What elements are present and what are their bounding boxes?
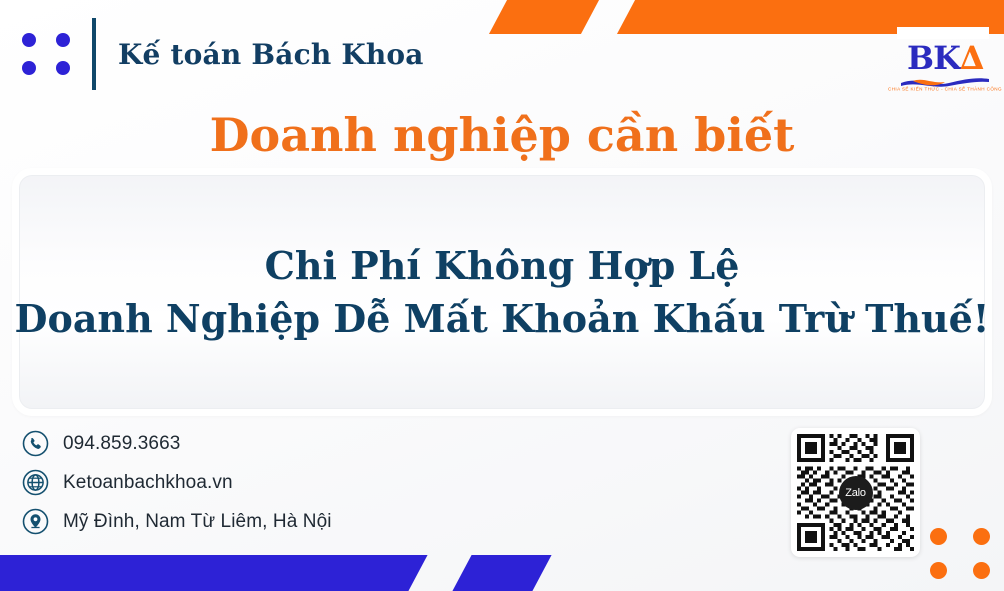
orange-slant-shape-2 — [617, 0, 1004, 34]
brand-header: Kế toán Bách Khoa — [22, 18, 424, 90]
logo-wordmark: BK∆ — [897, 42, 993, 74]
dot — [973, 528, 990, 545]
poster-canvas: Kế toán Bách Khoa BK∆ CHIA SẺ KIẾN THỨC … — [0, 0, 1004, 591]
blue-slant-shape-1 — [0, 555, 428, 591]
contact-row-website[interactable]: Ketoanbachkhoa.vn — [22, 463, 542, 502]
dot — [973, 562, 990, 579]
logo-letter-b: B — [907, 39, 933, 77]
main-message-card: Chi Phí Không Hợp Lệ Doanh Nghiệp Dễ Mất… — [12, 168, 992, 416]
contact-list: 094.859.3663 Ketoanbachkhoa.vn Mỹ Đình, … — [22, 424, 542, 541]
dot — [930, 562, 947, 579]
phone-icon — [22, 430, 49, 457]
logo-white-notch — [897, 27, 989, 39]
dot — [56, 61, 70, 75]
location-pin-icon — [22, 508, 49, 535]
zalo-qr-code[interactable]: Zalo — [791, 428, 920, 557]
bottom-blue-band — [0, 555, 1004, 591]
orange-right-block — [880, 0, 1004, 34]
dot — [56, 33, 70, 47]
contact-phone-text: 094.859.3663 — [63, 433, 180, 455]
logo-tagline: CHIA SẺ KIẾN THỨC - CHIA SẺ THÀNH CÔNG — [880, 88, 1004, 93]
card-headline-line-2: Doanh Nghiệp Dễ Mất Khoản Khấu Trừ Thuế! — [15, 295, 990, 343]
page-kicker: Doanh nghiệp cần biết — [0, 110, 1004, 161]
orange-slant-shape-1 — [489, 0, 599, 34]
four-dots-grid-icon — [22, 33, 70, 75]
contact-website-text: Ketoanbachkhoa.vn — [63, 472, 233, 494]
brand-name: Kế toán Bách Khoa — [118, 38, 424, 71]
logo-letter-k: K — [933, 39, 960, 77]
blue-slant-shape-2 — [452, 555, 551, 591]
four-dots-grid-orange-icon — [930, 528, 990, 579]
contact-row-phone[interactable]: 094.859.3663 — [22, 424, 542, 463]
card-headline-line-1: Chi Phí Không Hợp Lệ — [265, 242, 740, 290]
contact-row-address[interactable]: Mỹ Đình, Nam Từ Liêm, Hà Nội — [22, 502, 542, 541]
qr-center-badge: Zalo — [839, 476, 873, 510]
dot — [930, 528, 947, 545]
logo-letter-delta: ∆ — [960, 39, 983, 77]
bka-logo: BK∆ CHIA SẺ KIẾN THỨC - CHIA SẺ THÀNH CÔ… — [897, 42, 993, 100]
dot — [22, 33, 36, 47]
globe-icon — [22, 469, 49, 496]
vertical-divider — [92, 18, 96, 90]
contact-address-text: Mỹ Đình, Nam Từ Liêm, Hà Nội — [63, 511, 332, 533]
dot — [22, 61, 36, 75]
